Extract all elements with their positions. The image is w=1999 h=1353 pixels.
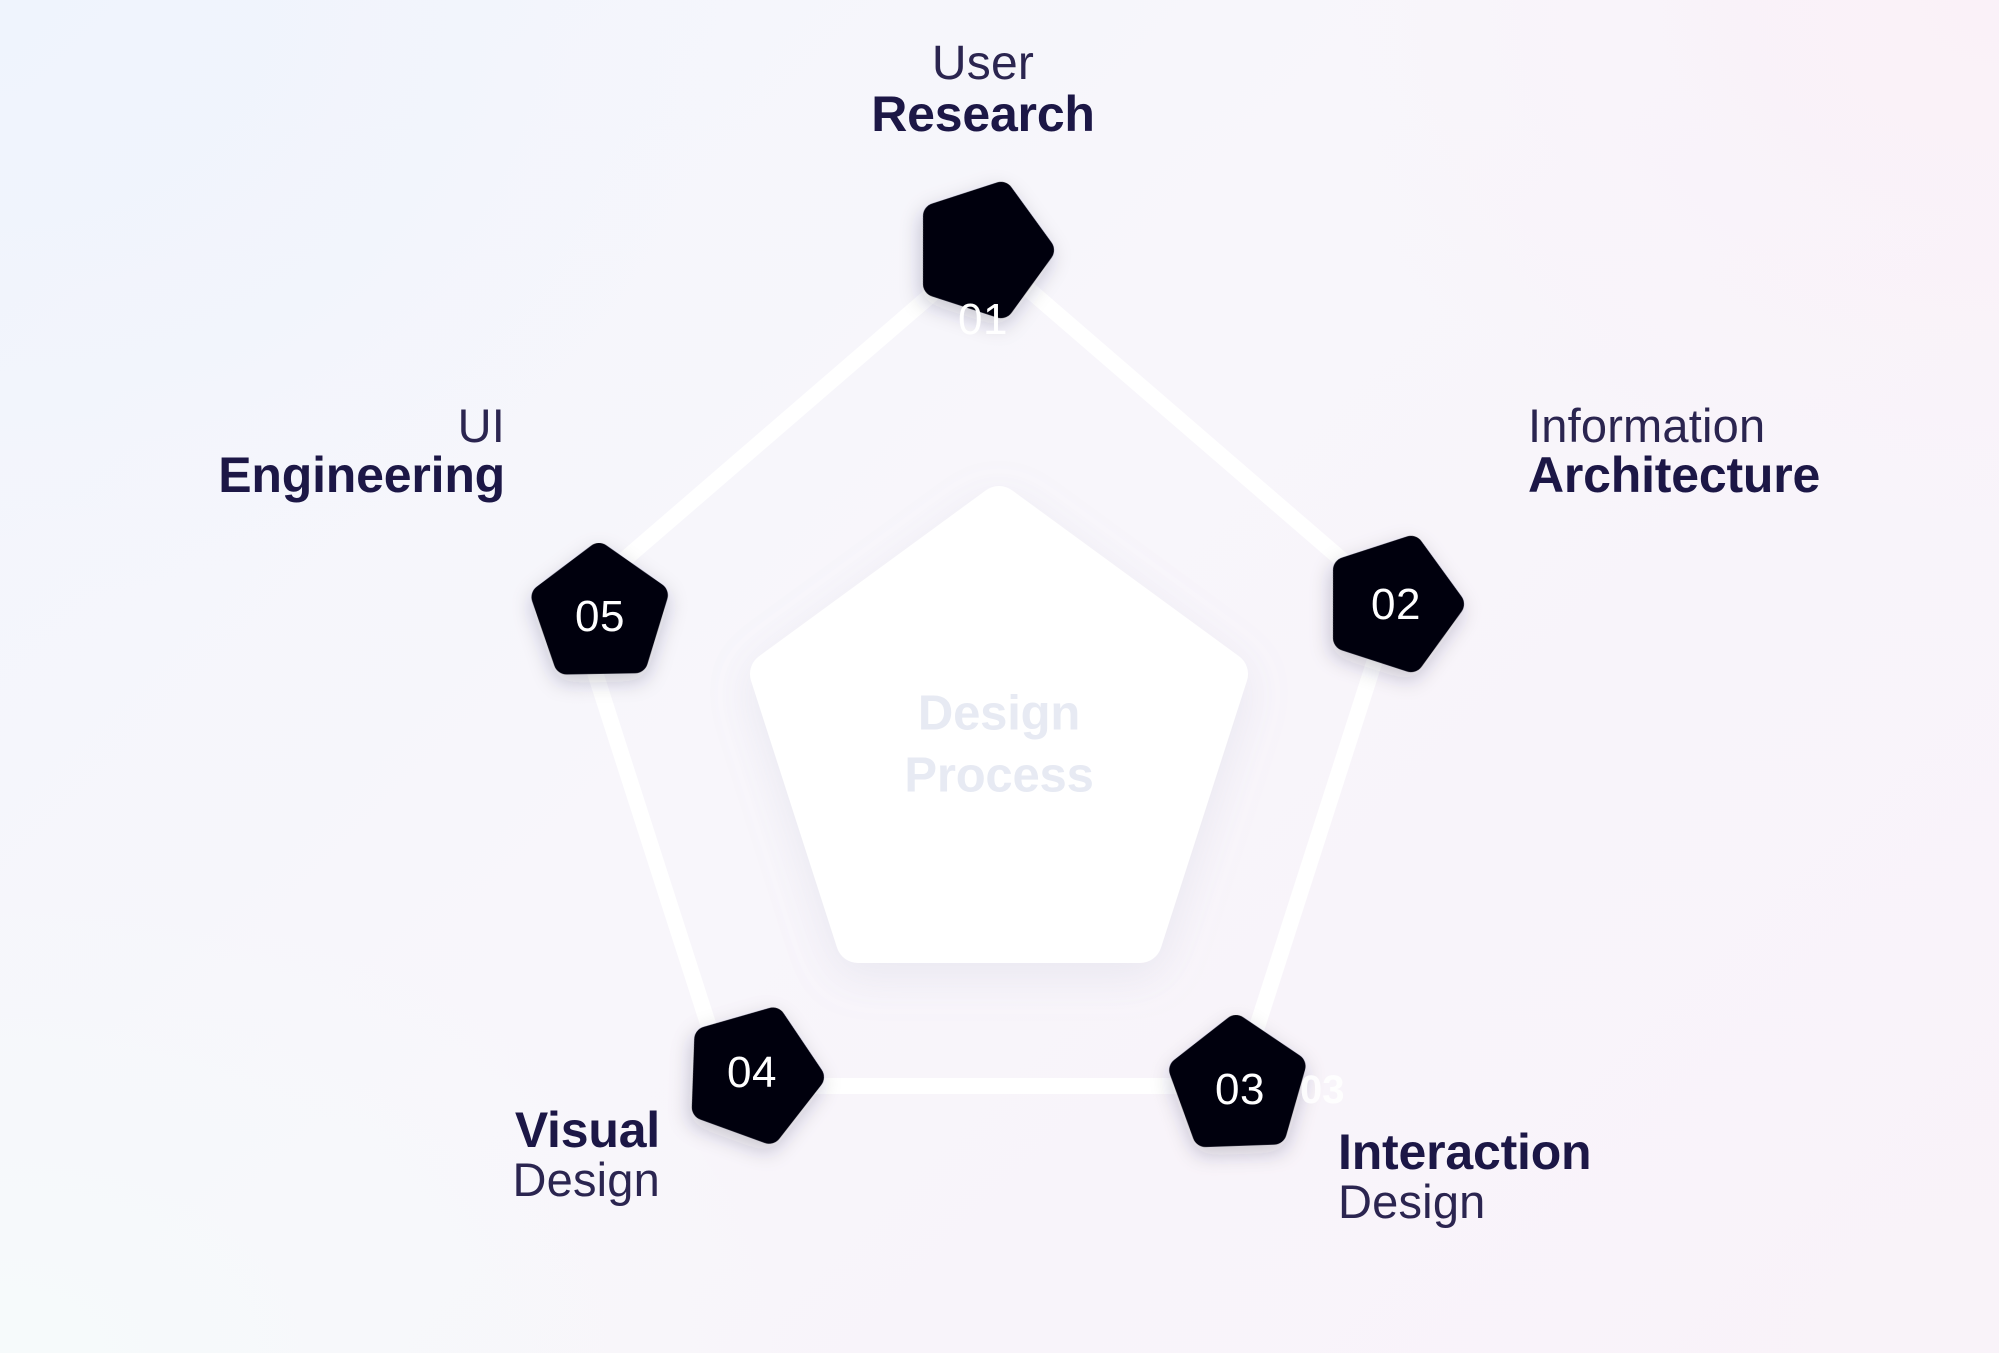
label-ui-engineering-thin: UI (218, 402, 505, 450)
center-pentagon (772, 508, 1226, 941)
duplicate-number-artifact: 03 (1300, 1068, 1345, 1113)
pentagon-diagram (0, 0, 1999, 1353)
label-user-research-thin: User (871, 40, 1095, 89)
label-information-architecture: Information Architecture (1528, 402, 1820, 501)
node-02[interactable] (1326, 532, 1463, 666)
label-information-architecture-thin: Information (1528, 402, 1820, 450)
diagram-canvas: 01 02 03 04 05 03 Design Process User Re… (0, 0, 1999, 1353)
label-ui-engineering: UI Engineering (218, 402, 505, 501)
label-interaction-design: Interaction Design (1338, 1127, 1591, 1226)
label-visual-design-bold: Visual (512, 1105, 660, 1156)
label-user-research-bold: Research (871, 89, 1095, 140)
label-interaction-design-bold: Interaction (1338, 1127, 1591, 1178)
node-03[interactable] (1181, 1026, 1295, 1135)
label-visual-design: Visual Design (512, 1105, 660, 1204)
label-interaction-design-thin: Design (1338, 1178, 1591, 1226)
label-user-research: User Research (871, 40, 1095, 140)
label-visual-design-thin: Design (512, 1156, 660, 1204)
label-ui-engineering-bold: Engineering (218, 450, 505, 501)
node-05[interactable] (544, 555, 656, 662)
label-information-architecture-bold: Architecture (1528, 450, 1820, 501)
